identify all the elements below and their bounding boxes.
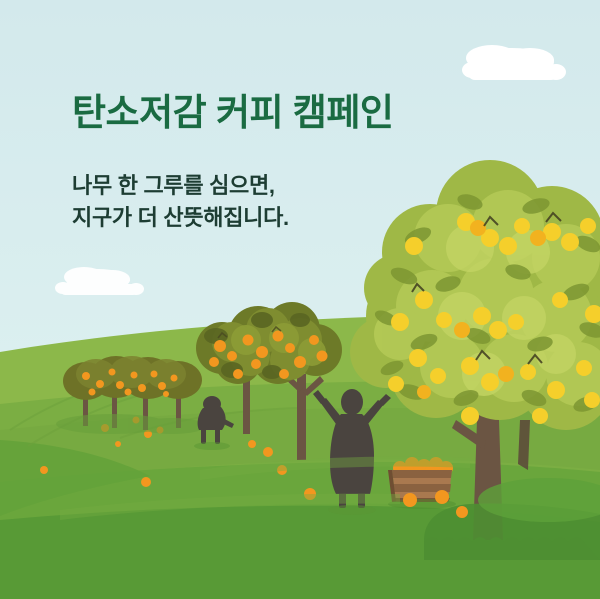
person-shadow	[328, 505, 376, 515]
bush-scallops	[424, 537, 600, 560]
campaign-poster: 탄소저감 커피 캠페인 나무 한 그루를 심으면, 지구가 더 산뜻해집니다.	[0, 0, 600, 599]
person-shadow	[194, 442, 230, 450]
orchard-illustration	[0, 0, 600, 599]
